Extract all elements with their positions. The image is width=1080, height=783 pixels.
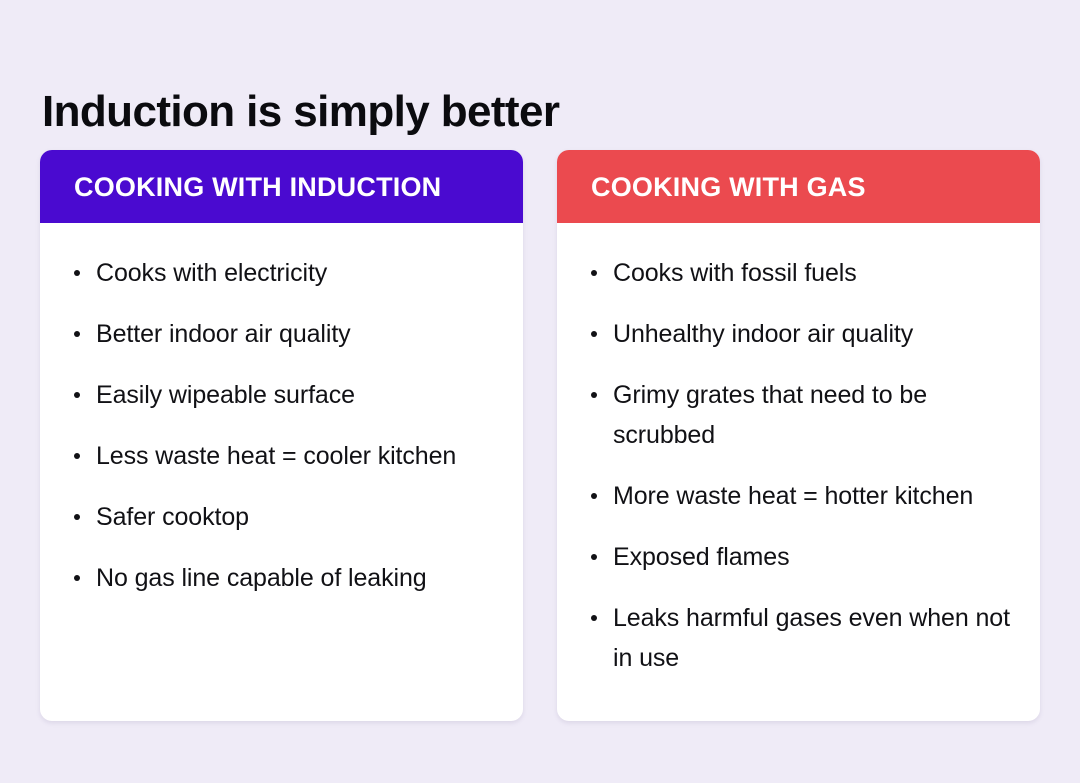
bullet-dot-icon xyxy=(74,392,80,398)
list-item: No gas line capable of leaking xyxy=(70,558,493,598)
list-item: Grimy grates that need to be scrubbed xyxy=(587,375,1010,455)
list-item: Leaks harmful gases even when not in use xyxy=(587,598,1010,678)
bullet-list-gas: Cooks with fossil fuels Unhealthy indoor… xyxy=(587,253,1010,678)
card-header-title-gas: COOKING WITH GAS xyxy=(591,172,866,202)
list-item: Easily wipeable surface xyxy=(70,375,493,415)
list-item: Cooks with fossil fuels xyxy=(587,253,1010,293)
card-header-induction: COOKING WITH INDUCTION xyxy=(40,150,523,223)
bullet-dot-icon xyxy=(591,270,597,276)
list-item-label: Cooks with fossil fuels xyxy=(613,253,1010,293)
bullet-dot-icon xyxy=(74,514,80,520)
list-item-label: Less waste heat = cooler kitchen xyxy=(96,436,493,476)
card-header-gas: COOKING WITH GAS xyxy=(557,150,1040,223)
bullet-dot-icon xyxy=(591,615,597,621)
list-item-label: Better indoor air quality xyxy=(96,314,493,354)
list-item-label: More waste heat = hotter kitchen xyxy=(613,476,1010,516)
list-item: More waste heat = hotter kitchen xyxy=(587,476,1010,516)
list-item: Less waste heat = cooler kitchen xyxy=(70,436,493,476)
list-item-label: Safer cooktop xyxy=(96,497,493,537)
list-item-label: Cooks with electricity xyxy=(96,253,493,293)
list-item-label: Exposed flames xyxy=(613,537,1010,577)
card-body-gas: Cooks with fossil fuels Unhealthy indoor… xyxy=(557,223,1040,721)
bullet-dot-icon xyxy=(74,453,80,459)
bullet-dot-icon xyxy=(74,575,80,581)
page-title: Induction is simply better xyxy=(42,87,559,137)
list-item: Cooks with electricity xyxy=(70,253,493,293)
list-item: Exposed flames xyxy=(587,537,1010,577)
list-item: Unhealthy indoor air quality xyxy=(587,314,1010,354)
list-item-label: No gas line capable of leaking xyxy=(96,558,493,598)
bullet-dot-icon xyxy=(591,554,597,560)
card-header-title-induction: COOKING WITH INDUCTION xyxy=(74,172,441,202)
card-gas: COOKING WITH GAS Cooks with fossil fuels… xyxy=(557,150,1040,721)
list-item: Safer cooktop xyxy=(70,497,493,537)
bullet-dot-icon xyxy=(74,331,80,337)
card-body-induction: Cooks with electricity Better indoor air… xyxy=(40,223,523,721)
bullet-dot-icon xyxy=(591,392,597,398)
bullet-dot-icon xyxy=(74,270,80,276)
comparison-infographic: Induction is simply better COOKING WITH … xyxy=(0,0,1080,783)
bullet-list-induction: Cooks with electricity Better indoor air… xyxy=(70,253,493,598)
list-item-label: Unhealthy indoor air quality xyxy=(613,314,1010,354)
list-item-label: Grimy grates that need to be scrubbed xyxy=(613,375,1010,455)
bullet-dot-icon xyxy=(591,493,597,499)
comparison-cards: COOKING WITH INDUCTION Cooks with electr… xyxy=(40,150,1040,721)
bullet-dot-icon xyxy=(591,331,597,337)
list-item-label: Leaks harmful gases even when not in use xyxy=(613,598,1010,678)
card-induction: COOKING WITH INDUCTION Cooks with electr… xyxy=(40,150,523,721)
list-item-label: Easily wipeable surface xyxy=(96,375,493,415)
list-item: Better indoor air quality xyxy=(70,314,493,354)
